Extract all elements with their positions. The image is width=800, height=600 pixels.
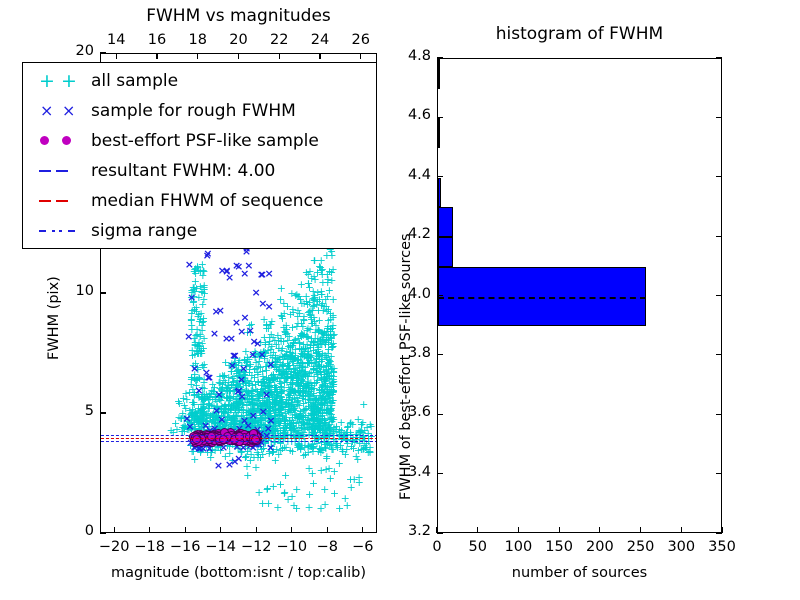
right-ytick: [437, 295, 443, 296]
circle-glyph: [40, 136, 49, 145]
histogram-reference-line-layer: [438, 59, 721, 532]
left-xtick-bottom: [327, 527, 328, 533]
left-xticklabel-bottom: −20: [98, 539, 130, 555]
dashed-segment: [56, 170, 68, 172]
legend-box: ++all sample××sample for rough FWHMbest-…: [22, 62, 377, 249]
legend-item-3[interactable]: resultant FWHM: 4.00: [29, 157, 373, 185]
left-xtick-top: [319, 53, 320, 59]
right-ytick-mirror: [716, 354, 722, 355]
right-xaxis-label: number of sources: [437, 565, 722, 581]
left-xticklabel-bottom: −8: [311, 539, 343, 555]
cross-glyph: ×: [40, 103, 53, 119]
right-xtick: [518, 527, 519, 533]
left-yticklabel: 5: [58, 403, 94, 419]
left-ytick: [100, 292, 106, 293]
right-ytick-mirror: [716, 473, 722, 474]
left-xticklabel-bottom: −16: [169, 539, 201, 555]
right-xticklabel: 150: [539, 539, 579, 555]
dashdot-segment: [52, 230, 55, 232]
legend-item-label: sigma range: [91, 221, 197, 241]
left-xticklabel-bottom: −12: [240, 539, 272, 555]
plus-glyph: +: [61, 72, 77, 91]
dashdot-line-blue: [29, 217, 91, 245]
left-ytick: [100, 412, 106, 413]
dashdot-segment: [59, 230, 62, 232]
left-xticklabel-top: 22: [263, 32, 295, 48]
left-ytick: [100, 532, 106, 533]
legend-item-1[interactable]: ××sample for rough FWHM: [29, 97, 373, 125]
left-xticklabel-bottom: −18: [134, 539, 166, 555]
dashed-segment: [39, 170, 51, 172]
left-xticklabel-top: 18: [182, 32, 214, 48]
left-xticklabel-top: 26: [345, 32, 377, 48]
left-ytick: [100, 52, 106, 53]
right-xtick: [681, 527, 682, 533]
right-ytick: [437, 532, 443, 533]
circle-glyph: [62, 136, 71, 145]
right-yticklabel: 3.2: [393, 523, 431, 539]
right-ytick-mirror: [716, 236, 722, 237]
right-ytick-mirror: [716, 176, 722, 177]
left-xaxis-label: magnitude (bottom:isnt / top:calib): [100, 565, 377, 581]
right-ytick: [437, 176, 443, 177]
legend-item-0[interactable]: ++all sample: [29, 67, 373, 95]
dashed-line-red: [29, 187, 91, 215]
left-xtick-top: [116, 53, 117, 59]
left-xtick-bottom: [256, 527, 257, 533]
histogram-plot-frame: [437, 58, 722, 533]
right-ytick: [437, 473, 443, 474]
circle-marker: [29, 127, 91, 155]
right-xtick: [477, 527, 478, 533]
left-xticklabel-bottom: −14: [205, 539, 237, 555]
left-yticklabel: 10: [58, 283, 94, 299]
right-ytick-mirror: [716, 57, 722, 58]
right-xticklabel: 200: [580, 539, 620, 555]
right-xticklabel: 50: [458, 539, 498, 555]
legend-item-label: resultant FWHM: 4.00: [91, 161, 275, 181]
legend-item-5[interactable]: sigma range: [29, 217, 373, 245]
left-xtick-top: [279, 53, 280, 59]
left-xticklabel-bottom: −10: [276, 539, 308, 555]
left-xtick-bottom: [149, 527, 150, 533]
right-ytick: [437, 117, 443, 118]
dashed-line-blue: [29, 157, 91, 185]
right-panel-title: histogram of FWHM: [437, 24, 722, 44]
dashed-segment: [39, 200, 51, 202]
left-xtick-bottom: [185, 527, 186, 533]
right-xticklabel: 0: [417, 539, 457, 555]
cross-marker: ××: [29, 97, 91, 125]
right-yticklabel: 4.8: [393, 48, 431, 64]
right-ytick: [437, 57, 443, 58]
left-xticklabel-bottom: −6: [347, 539, 379, 555]
reference-line-sigma-range-lower: [101, 441, 376, 442]
left-xticklabel-top: 16: [141, 32, 173, 48]
left-xticklabel-top: 20: [223, 32, 255, 48]
dashdot-segment: [39, 230, 46, 232]
left-xtick-bottom: [220, 527, 221, 533]
reference-line-median-fhwm-of-sequence: [101, 438, 376, 439]
left-xtick-bottom: [114, 527, 115, 533]
right-xticklabel: 250: [621, 539, 661, 555]
left-xtick-top: [156, 53, 157, 59]
left-panel-title: FWHM vs magnitudes: [100, 6, 377, 26]
right-yaxis-label: FWHM of best-effort PSF-like sources: [398, 233, 414, 500]
right-xticklabel: 350: [702, 539, 742, 555]
plus-glyph: +: [39, 72, 55, 91]
right-xtick: [640, 527, 641, 533]
left-xtick-bottom: [362, 527, 363, 533]
dashdot-segment: [68, 230, 75, 232]
right-xtick: [559, 527, 560, 533]
legend-item-4[interactable]: median FHWM of sequence: [29, 187, 373, 215]
legend-item-label: sample for rough FWHM: [91, 101, 296, 121]
legend-item-label: all sample: [91, 71, 178, 91]
legend-item-label: best-effort PSF-like sample: [91, 131, 319, 151]
right-xticklabel: 300: [661, 539, 701, 555]
right-ytick: [437, 236, 443, 237]
left-xtick-bottom: [291, 527, 292, 533]
legend-item-2[interactable]: best-effort PSF-like sample: [29, 127, 373, 155]
left-xtick-top: [197, 53, 198, 59]
plus-marker: ++: [29, 67, 91, 95]
right-xtick: [599, 527, 600, 533]
left-xtick-top: [238, 53, 239, 59]
right-ytick-mirror: [716, 117, 722, 118]
right-xticklabel: 100: [498, 539, 538, 555]
right-ytick-mirror: [716, 532, 722, 533]
left-yaxis-label: FWHM (pix): [46, 276, 62, 360]
left-yticklabel: 20: [58, 43, 94, 59]
right-ytick-mirror: [716, 295, 722, 296]
left-yticklabel: 0: [58, 523, 94, 539]
right-yticklabel: 4.6: [393, 107, 431, 123]
right-ytick: [437, 414, 443, 415]
right-ytick: [437, 354, 443, 355]
left-xticklabel-top: 14: [100, 32, 132, 48]
left-xtick-top: [360, 53, 361, 59]
left-xticklabel-top: 24: [304, 32, 336, 48]
dashed-segment: [56, 200, 68, 202]
histogram-resultant-fwhm-line: [438, 297, 646, 299]
right-ytick-mirror: [716, 414, 722, 415]
right-yticklabel: 4.4: [393, 167, 431, 183]
cross-glyph: ×: [62, 103, 75, 119]
legend-item-label: median FHWM of sequence: [91, 191, 323, 211]
reference-line-sigma-range-upper: [101, 435, 376, 436]
